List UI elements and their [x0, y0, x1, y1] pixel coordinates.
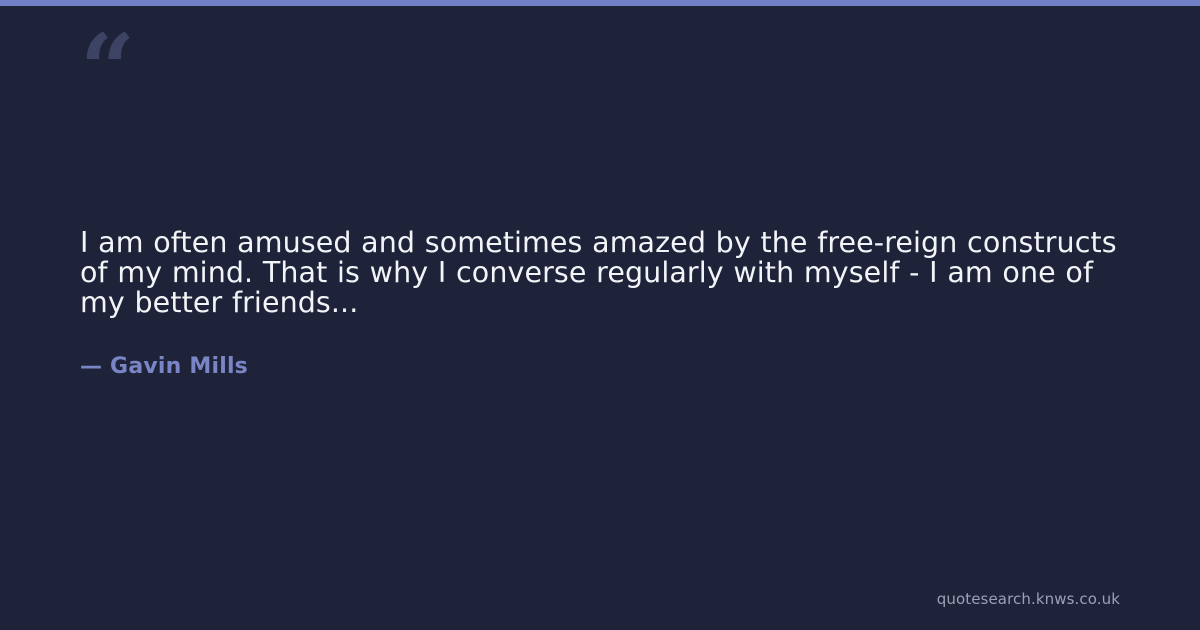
source-site-url: quotesearch.knws.co.uk — [937, 590, 1120, 608]
quote-card: “ I am often amused and sometimes amazed… — [0, 0, 1200, 630]
open-quote-icon: “ — [80, 22, 133, 118]
top-accent-bar — [0, 0, 1200, 6]
quote-author: — Gavin Mills — [80, 318, 1130, 379]
quote-text: I am often amused and sometimes amazed b… — [80, 228, 1130, 318]
quote-content: I am often amused and sometimes amazed b… — [80, 228, 1130, 379]
